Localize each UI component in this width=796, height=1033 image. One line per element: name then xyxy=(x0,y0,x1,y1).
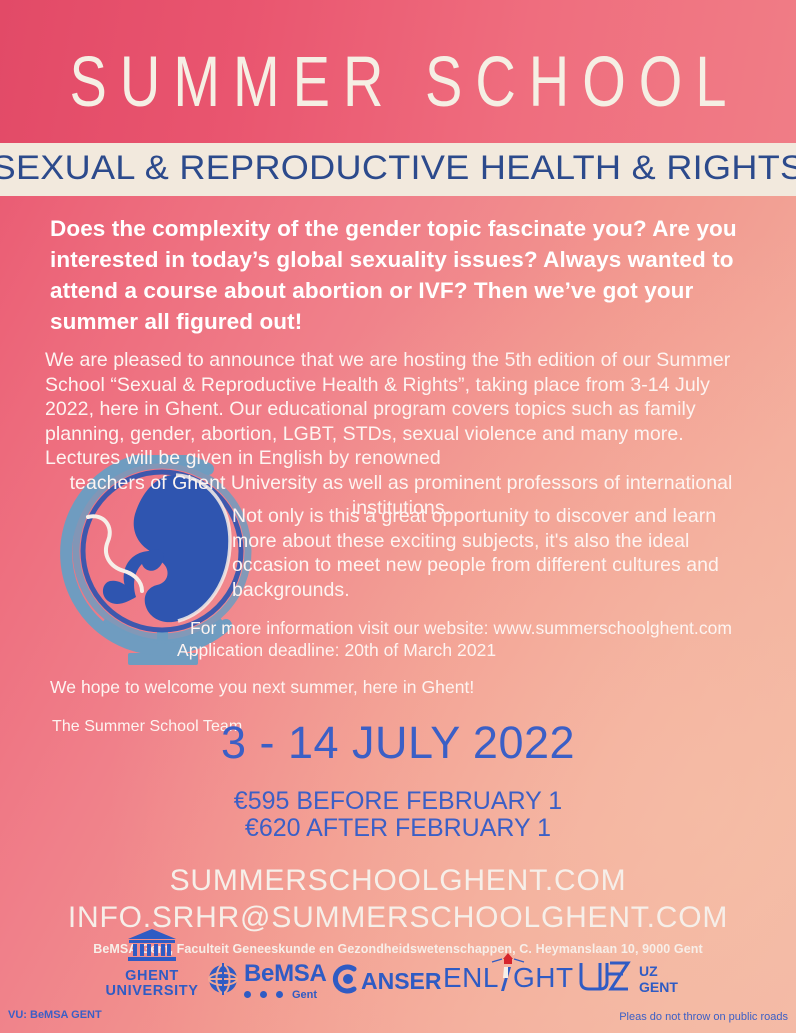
bemsa-dots: Gent xyxy=(244,988,327,1001)
ghent-university-label-line1: GHENT xyxy=(104,969,200,984)
bemsa-sub-label: Gent xyxy=(292,990,317,1001)
dates-heading: 3 - 14 JULY 2022 xyxy=(0,717,796,769)
uz-gent-mark-icon xyxy=(578,960,634,997)
body-paragraph-1-text: We are pleased to announce that we are h… xyxy=(45,349,730,469)
summer-school-poster: SUMMER SCHOOL SEXUAL & REPRODUCTIVE HEAL… xyxy=(0,0,796,1033)
price-late: €620 AFTER FEBRUARY 1 xyxy=(0,812,796,844)
uz-label-line2: GENT xyxy=(639,980,678,994)
anser-circle-icon xyxy=(330,964,360,999)
logo-row: GHENT UNIVERSITY BeMSA G xyxy=(0,928,796,1004)
enlight-wordmark-b: GHT xyxy=(513,962,574,993)
logo-uz-gent: UZ GENT xyxy=(578,960,678,997)
body-paragraph-2: Not only is this a great opportunity to … xyxy=(232,504,752,602)
logo-anser: ANSER xyxy=(330,964,442,999)
body-paragraph-1: We are pleased to announce that we are h… xyxy=(45,348,757,520)
page-title: SUMMER SCHOOL xyxy=(0,46,796,118)
ghent-university-label-line2: UNIVERSITY xyxy=(104,984,200,999)
more-info-text: For more information visit our website: … xyxy=(190,617,750,639)
bemsa-wordmark: BeMSA xyxy=(244,962,327,986)
welcome-text: We hope to welcome you next summer, here… xyxy=(50,675,650,700)
website-link[interactable]: SUMMERSCHOOLGHENT.COM xyxy=(0,864,796,898)
deadline-text: Application deadline: 20th of March 2021 xyxy=(177,639,750,661)
enlight-wordmark-a: ENL xyxy=(443,962,499,993)
logo-enlight: ENL GHT xyxy=(443,964,574,992)
more-info-block: For more information visit our website: … xyxy=(190,617,750,661)
bemsa-globe-icon xyxy=(205,961,241,1002)
anser-wordmark: ANSER xyxy=(361,970,442,993)
ghent-university-pillars-icon xyxy=(126,949,178,966)
subtitle-band: SEXUAL & REPRODUCTIVE HEALTH & RIGHTS xyxy=(0,143,796,196)
disposal-note: Pleas do not throw on public roads xyxy=(619,1011,788,1023)
logo-bemsa: BeMSA Gent xyxy=(205,961,327,1002)
logo-ghent-university: GHENT UNIVERSITY xyxy=(104,928,200,999)
vu-note: VU: BeMSA GENT xyxy=(8,1009,102,1021)
uz-label-line1: UZ xyxy=(639,964,678,978)
page-subtitle: SEXUAL & REPRODUCTIVE HEALTH & RIGHTS xyxy=(0,147,796,189)
enlight-wordmark: ENL GHT xyxy=(443,962,574,993)
lead-paragraph: Does the complexity of the gender topic … xyxy=(50,213,756,337)
